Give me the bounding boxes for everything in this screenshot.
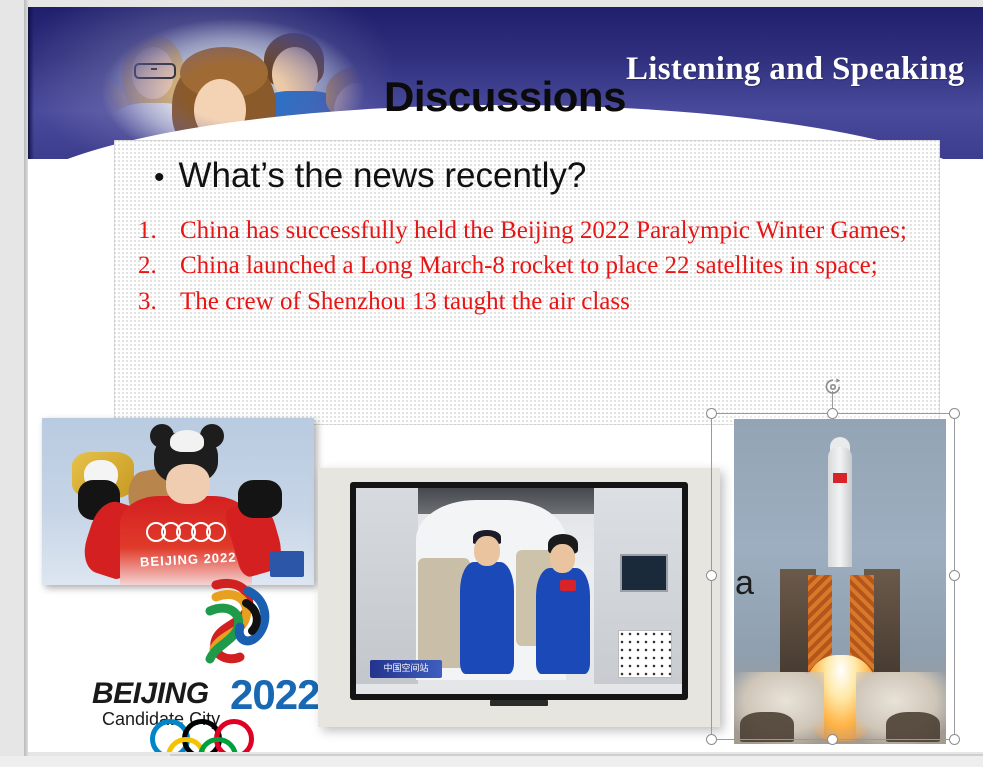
television-screen: 中国空间站 <box>356 488 682 694</box>
news-list: 1. China has successfully held the Beiji… <box>138 214 928 320</box>
list-item: 2. China launched a Long March-8 rocket … <box>138 249 928 282</box>
list-item-number: 2. <box>138 249 164 282</box>
list-item-text: China has successfully held the Beijing … <box>180 214 928 247</box>
bullet-marker-icon: • <box>154 163 165 193</box>
list-item-number: 1. <box>138 214 164 247</box>
logo-beijing-text: BEIJING <box>92 677 209 711</box>
list-item: 1. China has successfully held the Beiji… <box>138 214 928 247</box>
slide-surface[interactable]: Listening and Speaking Discussions • Wha… <box>28 7 983 752</box>
logo-year-text: 2022 <box>230 671 319 719</box>
broadcast-caption-text: 中国空间站 <box>370 660 442 678</box>
bottom-strip <box>0 756 983 767</box>
top-gutter <box>0 0 983 7</box>
slide-subtitle: Listening and Speaking <box>626 51 965 88</box>
list-item-number: 3. <box>138 285 164 318</box>
olympic-rings-icon <box>150 719 286 752</box>
banner-edge-shade <box>28 7 34 159</box>
content-text-box[interactable]: • What’s the news recently? 1. China has… <box>114 140 940 425</box>
list-item: 3. The crew of Shenzhou 13 taught the ai… <box>138 285 928 318</box>
bullet-question-text: What’s the news recently? <box>179 156 587 196</box>
beijing-2022-candidate-city-logo[interactable]: BEIJING Candidate City 2022 <box>90 577 340 752</box>
presentation-canvas: Listening and Speaking Discussions • Wha… <box>0 0 983 767</box>
broadcast-caption: 中国空间站 <box>370 660 442 678</box>
rocket-launch-photo[interactable] <box>734 419 946 744</box>
olympic-rings-icon <box>146 522 226 542</box>
snowboarder-photo[interactable]: BEIJING 2022 <box>42 418 314 585</box>
stray-text-glyph: a <box>735 564 754 603</box>
slide-title: Discussions <box>384 73 626 121</box>
television-stand <box>490 700 548 706</box>
list-item-text: China launched a Long March-8 rocket to … <box>180 249 928 282</box>
television-frame: 中国空间站 <box>350 482 688 700</box>
bullet-question: • What’s the news recently? <box>154 156 586 196</box>
beijing-logo-swirl-icon <box>186 577 282 677</box>
space-station-tv-photo[interactable]: 中国空间站 <box>318 468 720 727</box>
list-item-text: The crew of Shenzhou 13 taught the air c… <box>180 285 928 318</box>
broadcaster-badge <box>270 551 304 577</box>
